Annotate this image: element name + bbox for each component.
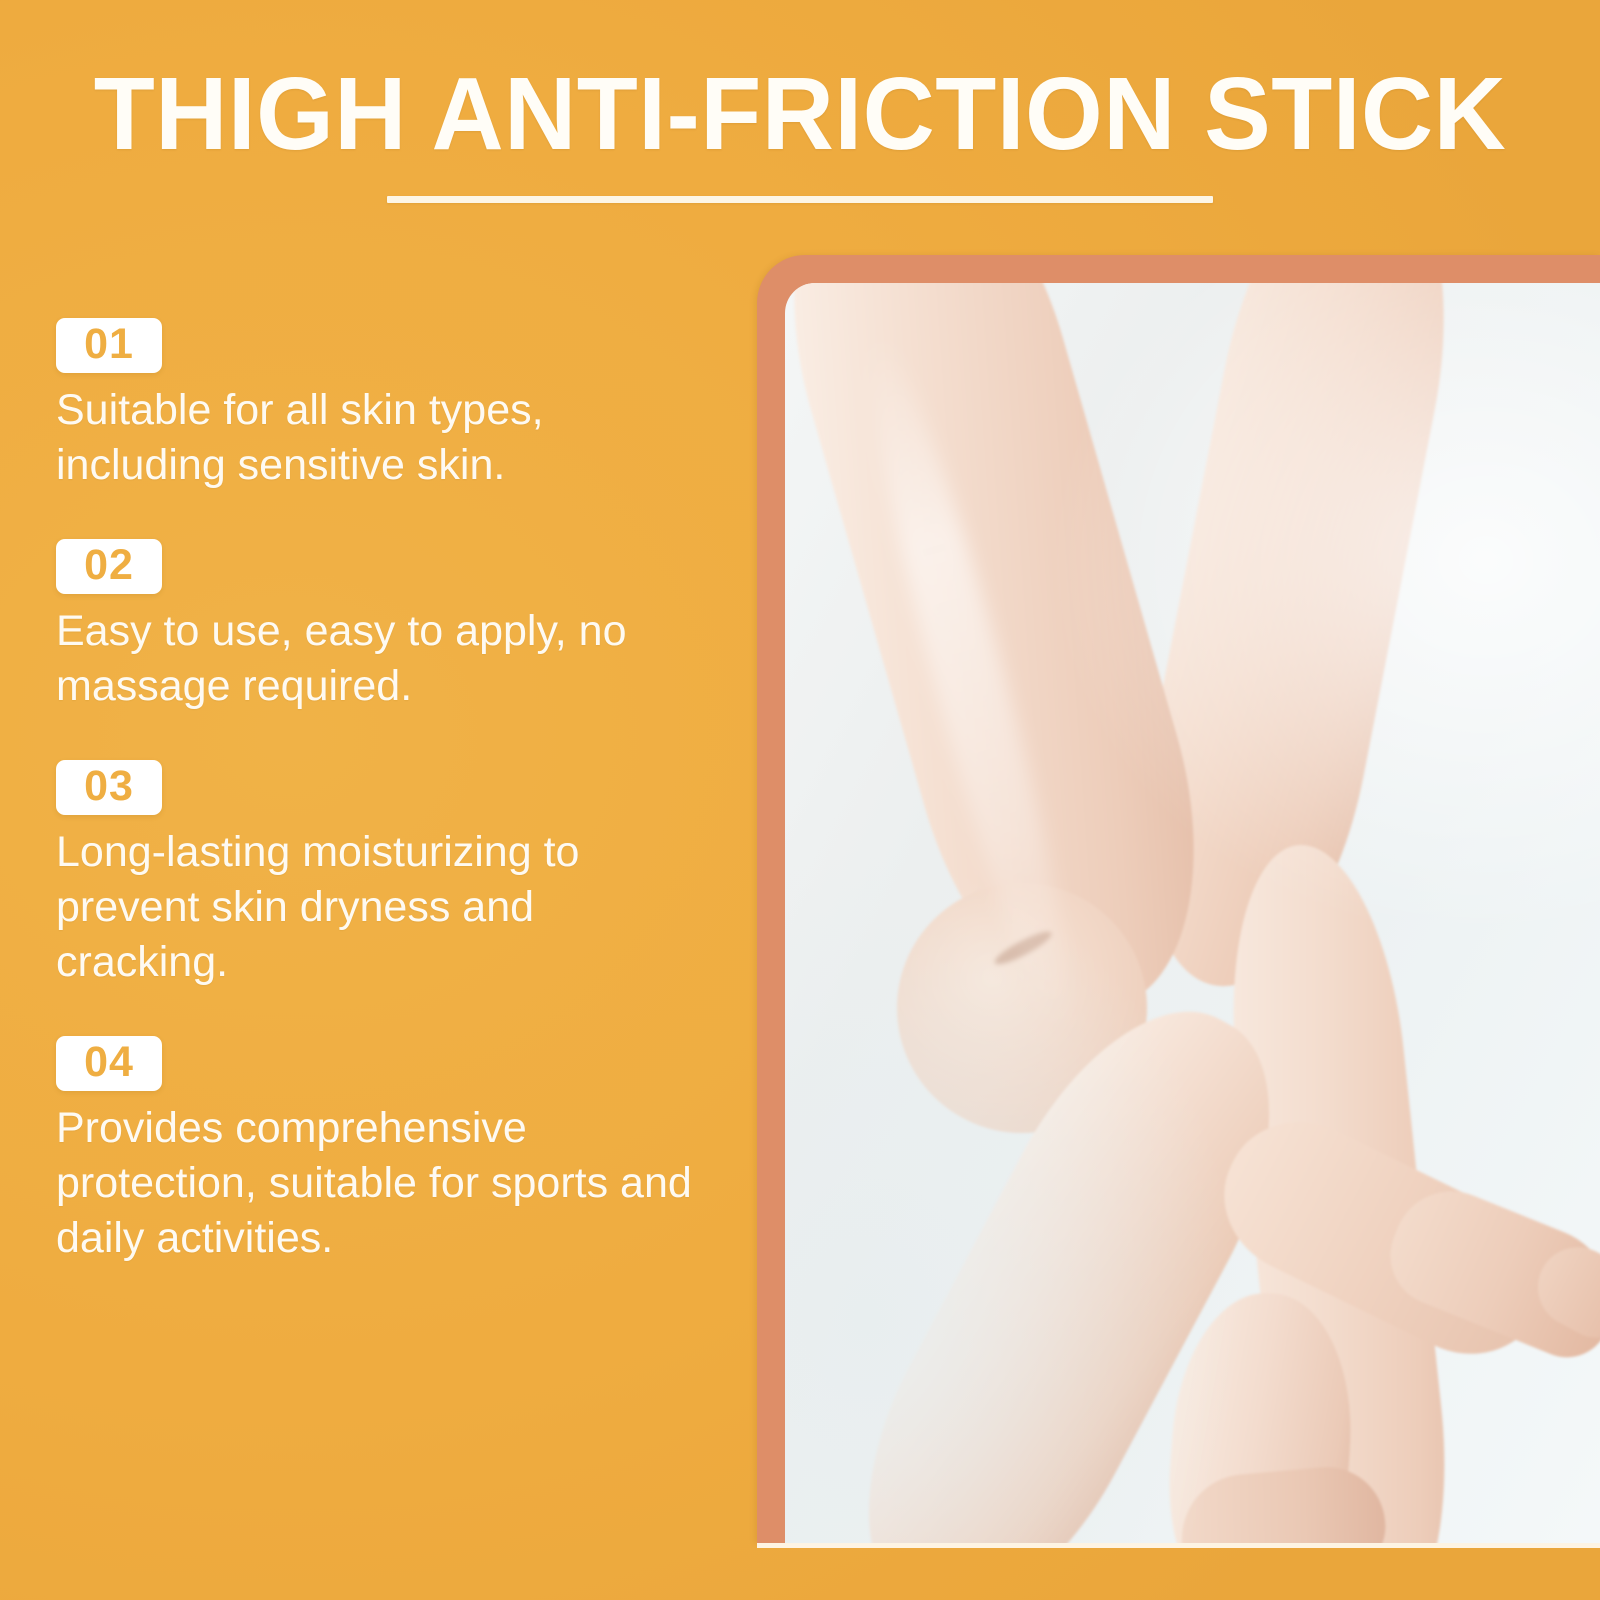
photo-baseline-rule	[757, 1543, 1600, 1548]
title-underline	[387, 196, 1213, 203]
feature-item-01: 01 Suitable for all skin types, includin…	[56, 318, 716, 493]
feature-item-02: 02 Easy to use, easy to apply, no massag…	[56, 539, 716, 714]
feature-item-04: 04 Provides comprehensive protection, su…	[56, 1036, 716, 1266]
feature-number-label: 03	[84, 765, 134, 808]
feature-number-badge: 01	[56, 318, 162, 373]
feature-description: Long-lasting moisturizing to prevent ski…	[56, 825, 716, 990]
feature-number-label: 02	[84, 544, 134, 587]
feature-description: Provides comprehensive protection, suita…	[56, 1101, 716, 1266]
product-photo-frame	[757, 255, 1600, 1543]
page-title: THIGH ANTI-FRICTION STICK	[24, 62, 1576, 165]
feature-description: Easy to use, easy to apply, no massage r…	[56, 604, 716, 714]
product-photo	[785, 283, 1600, 1543]
feature-number-badge: 04	[56, 1036, 162, 1091]
legs-shape-group	[785, 283, 1600, 1543]
feature-description: Suitable for all skin types, including s…	[56, 383, 716, 493]
feature-number-label: 01	[84, 323, 134, 366]
feature-number-label: 04	[84, 1041, 134, 1084]
legs-illustration	[785, 283, 1600, 1543]
product-infographic: THIGH ANTI-FRICTION STICK 01 Suitable fo…	[0, 0, 1600, 1600]
feature-item-03: 03 Long-lasting moisturizing to prevent …	[56, 760, 716, 990]
feature-number-badge: 03	[56, 760, 162, 815]
header: THIGH ANTI-FRICTION STICK	[0, 62, 1600, 203]
feature-number-badge: 02	[56, 539, 162, 594]
feature-list: 01 Suitable for all skin types, includin…	[56, 318, 716, 1266]
